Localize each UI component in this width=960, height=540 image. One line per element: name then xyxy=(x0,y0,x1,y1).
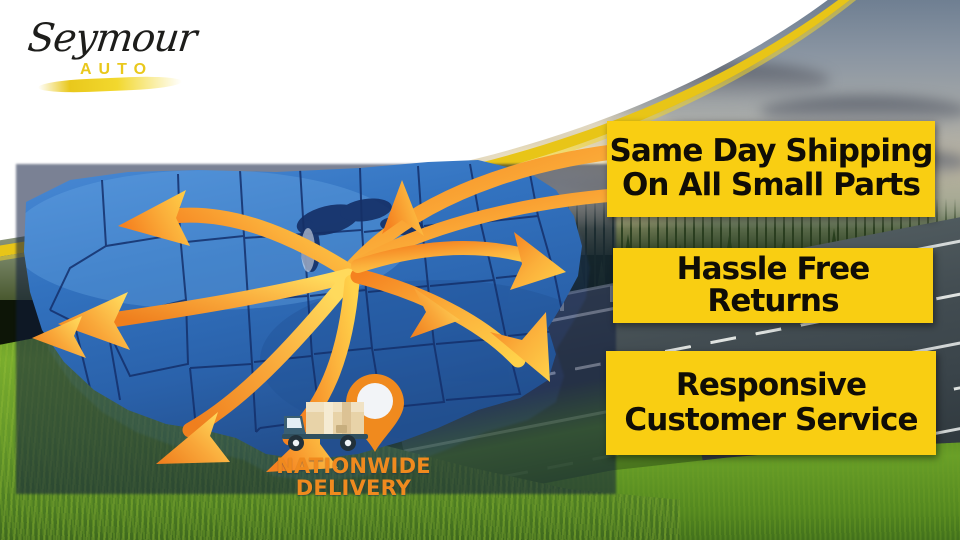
brand-subtitle: AUTO xyxy=(80,61,153,79)
banner-1-line-2: On All Small Parts xyxy=(607,170,935,202)
nationwide-delivery-label: NATIONWIDE DELIVERY xyxy=(266,456,441,499)
promo-banner-stage: NATIONWIDE DELIVERY Seymour AUTO Same Da… xyxy=(0,0,960,540)
nationwide-line-2: DELIVERY xyxy=(266,478,441,500)
banner-3-line-2: Customer Service xyxy=(606,405,936,437)
banner-3-line-1: Responsive xyxy=(606,370,936,402)
usa-map-graphic: NATIONWIDE DELIVERY xyxy=(10,150,630,495)
delivery-truck-icon xyxy=(280,398,372,458)
banner-hassle-free-returns[interactable]: Hassle Free Returns xyxy=(613,248,933,323)
brand-name: Seymour xyxy=(25,16,198,61)
banner-same-day-shipping[interactable]: Same Day Shipping On All Small Parts xyxy=(607,121,935,217)
nationwide-line-1: NATIONWIDE xyxy=(266,456,441,478)
banner-1-line-1: Same Day Shipping xyxy=(607,136,935,168)
banner-2-line-1: Hassle Free Returns xyxy=(613,254,933,317)
brand-logo[interactable]: Seymour AUTO xyxy=(20,14,200,94)
banner-responsive-customer-service[interactable]: Responsive Customer Service xyxy=(606,351,936,455)
